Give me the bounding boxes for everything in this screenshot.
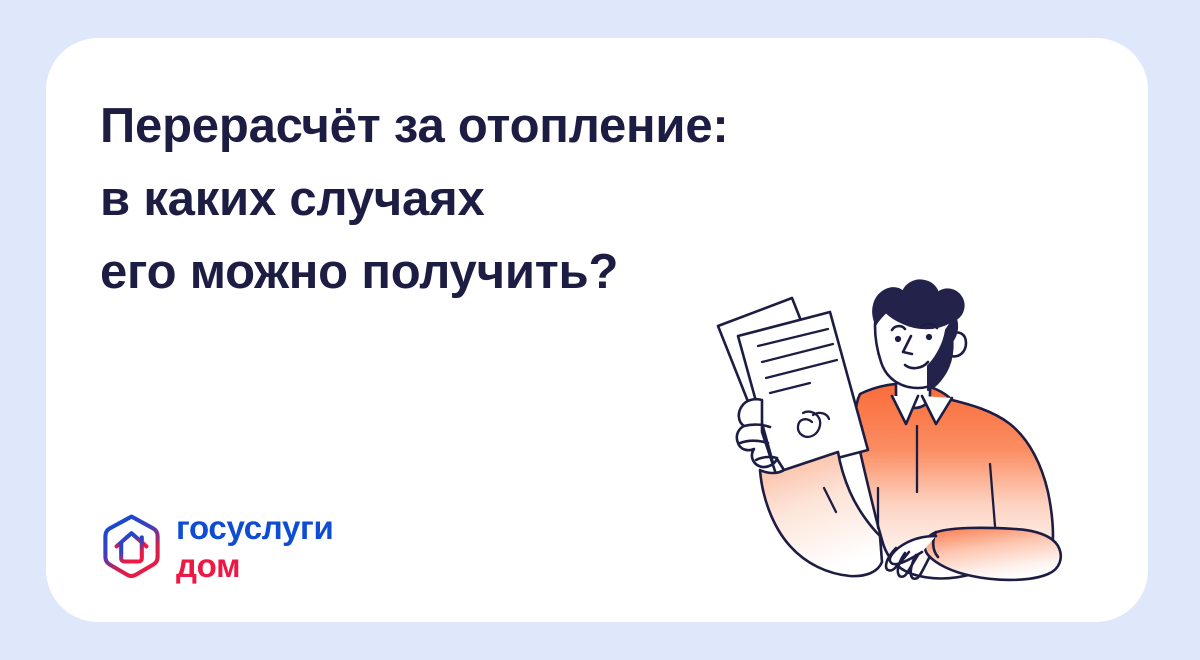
poster-root: Перерасчёт за отопление: в каких случаях… [0, 0, 1200, 660]
content-card: Перерасчёт за отопление: в каких случаях… [46, 38, 1148, 622]
illustration-man-holding-documents [700, 274, 1120, 604]
brand-logo[interactable]: госуслуги дом [100, 511, 333, 582]
logo-wordmark: госуслуги дом [176, 511, 333, 582]
logo-word-gosuslugi: госуслуги [176, 511, 333, 544]
logo-word-dom: дом [176, 549, 333, 582]
hexagon-house-icon [100, 513, 163, 580]
